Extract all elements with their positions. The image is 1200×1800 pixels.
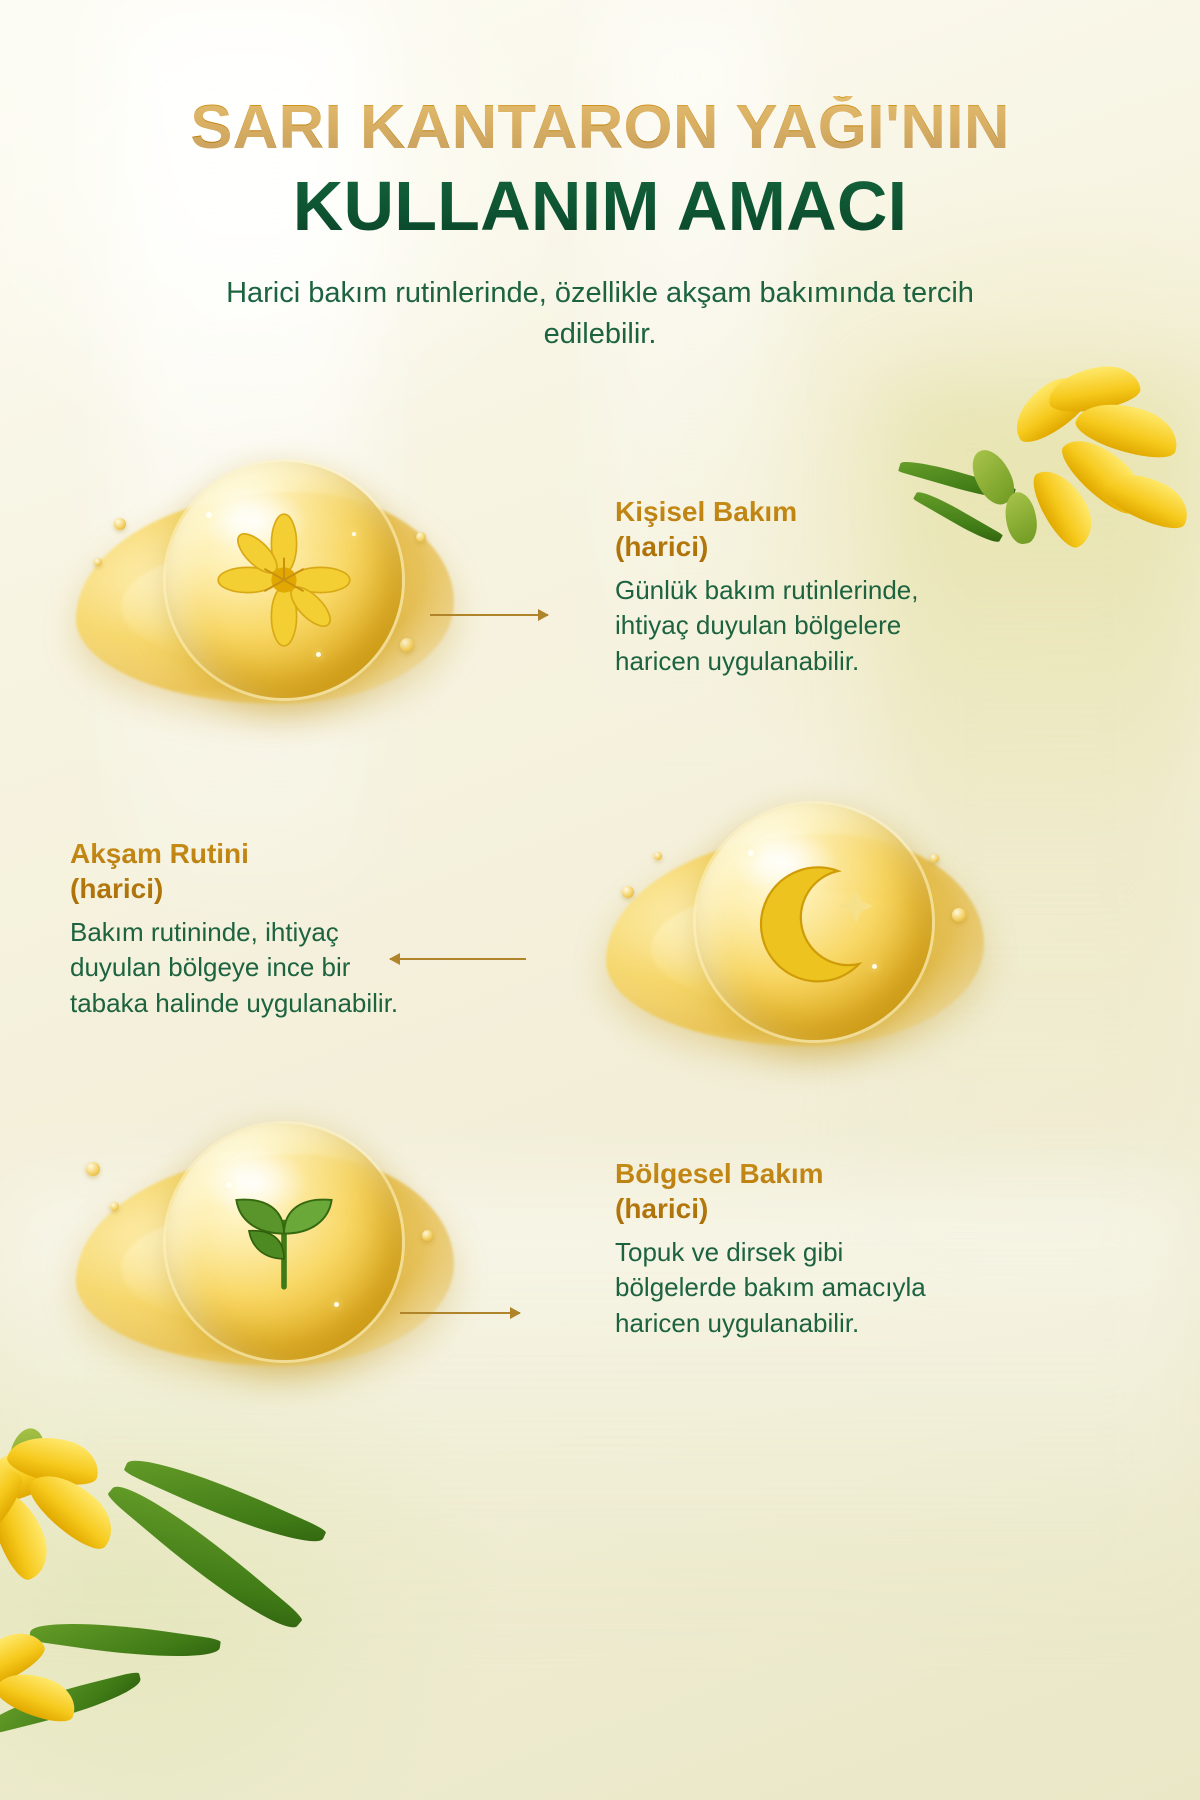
- feature-text-bolgesel-bakim: Bölgesel Bakım (harici) Topuk ve dirsek …: [615, 1156, 1085, 1342]
- connector-arrow-2: [390, 958, 526, 960]
- flower-petal: [1003, 366, 1099, 451]
- oil-droplet: [86, 1162, 100, 1176]
- flower-bud: [5, 1425, 50, 1487]
- oil-droplet: [952, 908, 966, 922]
- oil-orb-visual-moon: [600, 790, 990, 1090]
- feature-body: Bakım rutininde, ihtiyaç duyulan bölgeye…: [70, 915, 540, 1023]
- oil-orb-visual-flower: [70, 448, 460, 748]
- flower-petal: [21, 1459, 125, 1559]
- feature-heading: Kişisel Bakım (harici): [615, 494, 1085, 565]
- feature-heading: Bölgesel Bakım (harici): [615, 1156, 1085, 1227]
- oil-droplet: [110, 1202, 119, 1211]
- oil-droplet: [654, 852, 662, 860]
- feature-text-kisisel-bakim: Kişisel Bakım (harici) Günlük bakım ruti…: [615, 494, 1085, 680]
- feature-row-bolgesel-bakim: Bölgesel Bakım (harici) Topuk ve dirsek …: [60, 1110, 1140, 1440]
- stem-leaf: [0, 1671, 145, 1735]
- title-line-2: KULLANIM AMACI: [0, 171, 1200, 242]
- oil-orb: [166, 462, 402, 698]
- oil-droplet: [422, 1230, 433, 1241]
- st-johns-wort-flower-bottom-left: [0, 1390, 390, 1800]
- connector-arrow-1: [430, 614, 548, 616]
- poster-subtitle: Harici bakım rutinlerinde, özellikle akş…: [180, 273, 1020, 355]
- title-line-1: SARI KANTARON YAĞI'NIN: [0, 96, 1200, 159]
- feature-row-aksam-rutini: Akşam Rutini (harici) Bakım rutininde, i…: [60, 790, 1140, 1100]
- oil-droplet: [400, 638, 414, 652]
- oil-droplet: [94, 558, 102, 566]
- feature-body: Günlük bakım rutinlerinde, ihtiyaç duyul…: [615, 573, 1085, 681]
- infographic-poster: SARI KANTARON YAĞI'NIN KULLANIM AMACI Ha…: [0, 0, 1200, 1800]
- oil-droplet: [622, 886, 634, 898]
- feature-body: Topuk ve dirsek gibi bölgelerde bakım am…: [615, 1235, 1085, 1343]
- leaf-sprout-icon: [166, 1124, 402, 1360]
- oil-orb-visual-leaf: [70, 1110, 460, 1410]
- flower-petal: [0, 1483, 56, 1585]
- oil-orb: [696, 804, 932, 1040]
- oil-droplet: [416, 532, 426, 542]
- flower-petal: [0, 1438, 71, 1511]
- connector-arrow-3: [400, 1312, 520, 1314]
- crescent-moon-icon: [696, 804, 932, 1040]
- flower-petal: [0, 1623, 50, 1697]
- feature-text-aksam-rutini: Akşam Rutini (harici) Bakım rutininde, i…: [70, 836, 540, 1022]
- oil-droplet: [114, 518, 126, 530]
- feature-row-kisisel-bakim: Kişisel Bakım (harici) Günlük bakım ruti…: [60, 448, 1140, 748]
- flower-icon: [166, 462, 402, 698]
- stem-leaf: [123, 1445, 327, 1558]
- oil-orb: [166, 1124, 402, 1360]
- poster-header: SARI KANTARON YAĞI'NIN KULLANIM AMACI Ha…: [0, 96, 1200, 355]
- flower-petal: [0, 1457, 32, 1559]
- feature-heading: Akşam Rutini (harici): [70, 836, 540, 907]
- stem-leaf: [106, 1470, 304, 1644]
- flower-petal: [1046, 362, 1143, 416]
- flower-petal: [0, 1662, 83, 1730]
- stem-leaf: [29, 1613, 221, 1667]
